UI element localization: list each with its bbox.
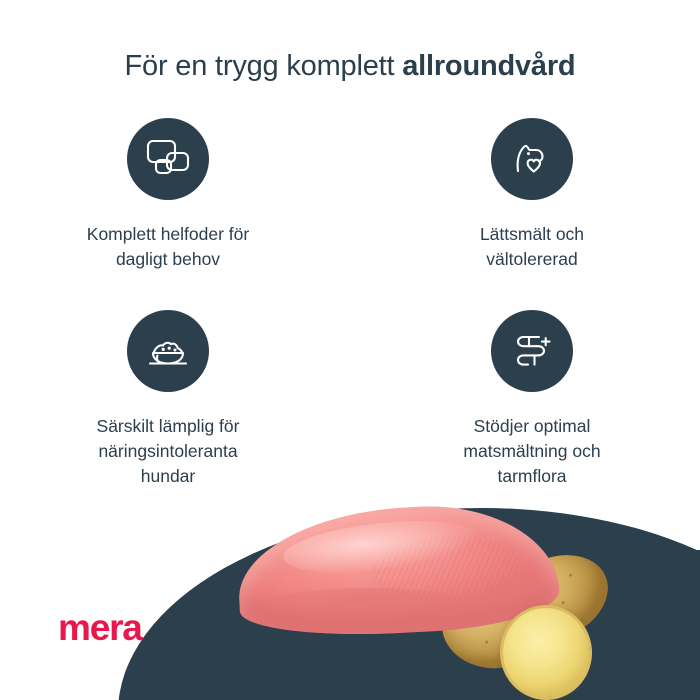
page-title: För en trygg komplett allroundvård [0, 48, 700, 84]
page-title-bold: allroundvård [402, 50, 575, 82]
promo-graphic: För en trygg komplett allroundvård Kompl… [0, 0, 700, 700]
feature-label-line-1: Lättsmält och [480, 224, 584, 244]
intestine-plus-icon [491, 310, 573, 392]
fillet-shadow [254, 588, 484, 631]
feature-label-line-2: dagligt behov [116, 249, 220, 269]
pork-fillet [238, 508, 558, 633]
feature-item-digestible: Lättsmält och vältolererad [382, 118, 682, 272]
feature-label-line-2: vältolererad [486, 249, 577, 269]
feature-label-complete-food: Komplett helfoder för dagligt behov [18, 222, 318, 272]
screens-icon [127, 118, 209, 200]
mera-logo: mera [58, 608, 142, 648]
page-title-normal: För en trygg komplett [125, 50, 403, 82]
hero-artwork [0, 430, 700, 700]
feature-label-digestible: Lättsmält och vältolererad [382, 222, 682, 272]
feature-label-line-1: Komplett helfoder för [87, 224, 249, 244]
food-bowl-icon [127, 310, 209, 392]
feature-item-complete-food: Komplett helfoder för dagligt behov [18, 118, 318, 272]
dog-heart-icon [491, 118, 573, 200]
